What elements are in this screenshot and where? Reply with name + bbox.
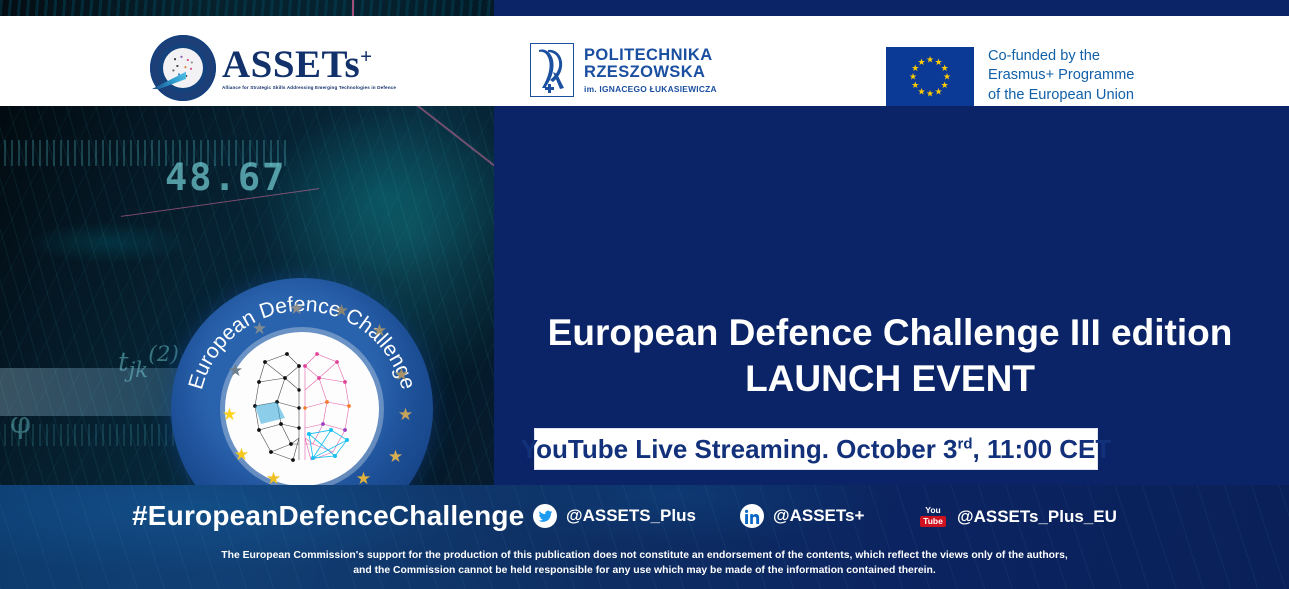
brain-network-graphic	[225, 332, 379, 486]
twitter-handle: @ASSETS_Plus	[566, 506, 696, 526]
youtube-you-text: You	[925, 506, 940, 515]
linkedin-icon	[740, 504, 764, 528]
svg-text:★: ★	[917, 58, 925, 68]
campaign-hashtag: #EuropeanDefenceChallenge	[132, 500, 524, 532]
linkedin-handle: @ASSETs+	[773, 506, 864, 526]
rzeszow-university-logo: POLITECHNIKA RZESZOWSKA im. IGNACEGO ŁUK…	[530, 43, 717, 97]
poster-body: 48.67 tjk(2) ρ φ Σ European Defence Chal…	[0, 106, 1289, 485]
assets-plus-wordmark: ASSETs+ Alliance for Strategic Skills Ad…	[222, 45, 396, 91]
top-accent-strip	[0, 0, 1289, 16]
page-title: European Defence Challenge III edition L…	[510, 310, 1270, 402]
top-strip-navy	[494, 0, 1289, 16]
youtube-icon: You Tube	[918, 504, 948, 529]
assets-plus-logo: ASSETs+ Alliance for Strategic Skills Ad…	[150, 34, 375, 102]
social-twitter[interactable]: @ASSETS_Plus	[533, 504, 696, 528]
assets-name: ASSETs	[222, 43, 360, 86]
youtube-handle: @ASSETs_Plus_EU	[957, 507, 1117, 527]
eu-line-3: of the European Union	[988, 86, 1134, 105]
rzeszow-university-crest-icon	[530, 43, 574, 97]
eu-disclaimer: The European Commission's support for th…	[0, 549, 1289, 579]
stream-prefix: YouTube Live Streaming. October 3	[521, 434, 958, 464]
logo-header: ASSETs+ Alliance for Strategic Skills Ad…	[0, 16, 1289, 106]
disclaimer-line-1: The European Commission's support for th…	[0, 549, 1289, 564]
twitter-icon	[533, 504, 557, 528]
top-strip-pink-line	[352, 0, 354, 16]
social-youtube[interactable]: You Tube @ASSETs_Plus_EU	[918, 504, 1117, 529]
svg-text:★: ★	[934, 87, 942, 97]
streaming-details-ribbon: YouTube Live Streaming. October 3rd, 11:…	[534, 428, 1098, 470]
eu-cofunded-logo: ★★★★★★★★★★★★ Co-funded by the Erasmus+ P…	[886, 47, 1134, 106]
top-strip-dark	[0, 0, 494, 16]
eu-line-2: Erasmus+ Programme	[988, 66, 1134, 85]
assets-plus-logo-icon	[150, 35, 216, 101]
eu-flag-icon: ★★★★★★★★★★★★	[886, 47, 974, 106]
eu-line-1: Co-funded by the	[988, 47, 1134, 66]
assets-plus-sign: +	[360, 44, 372, 68]
svg-text:★: ★	[926, 56, 934, 66]
stream-ordinal-suffix: rd	[958, 435, 973, 452]
rzeszow-university-wordmark: POLITECHNIKA RZESZOWSKA im. IGNACEGO ŁUK…	[584, 47, 717, 94]
social-linkedin[interactable]: @ASSETs+	[740, 504, 864, 528]
rzeszow-line-3: im. IGNACEGO ŁUKASIEWICZA	[584, 85, 717, 94]
event-poster: ASSETs+ Alliance for Strategic Skills Ad…	[0, 0, 1289, 589]
disclaimer-line-2: and the Commission cannot be held respon…	[0, 564, 1289, 579]
svg-text:★: ★	[926, 90, 934, 100]
eu-cofunded-text: Co-funded by the Erasmus+ Programme of t…	[988, 47, 1134, 105]
assets-tagline: Alliance for Strategic Skills Addressing…	[222, 86, 396, 91]
rzeszow-line-2: RZESZOWSKA	[584, 64, 717, 81]
title-line-1: European Defence Challenge III edition	[548, 312, 1233, 353]
rzeszow-line-1: POLITECHNIKA	[584, 47, 717, 64]
youtube-tube-text: Tube	[920, 516, 946, 527]
stream-time: , 11:00 CET	[973, 434, 1112, 464]
title-line-2: LAUNCH EVENT	[510, 356, 1270, 402]
